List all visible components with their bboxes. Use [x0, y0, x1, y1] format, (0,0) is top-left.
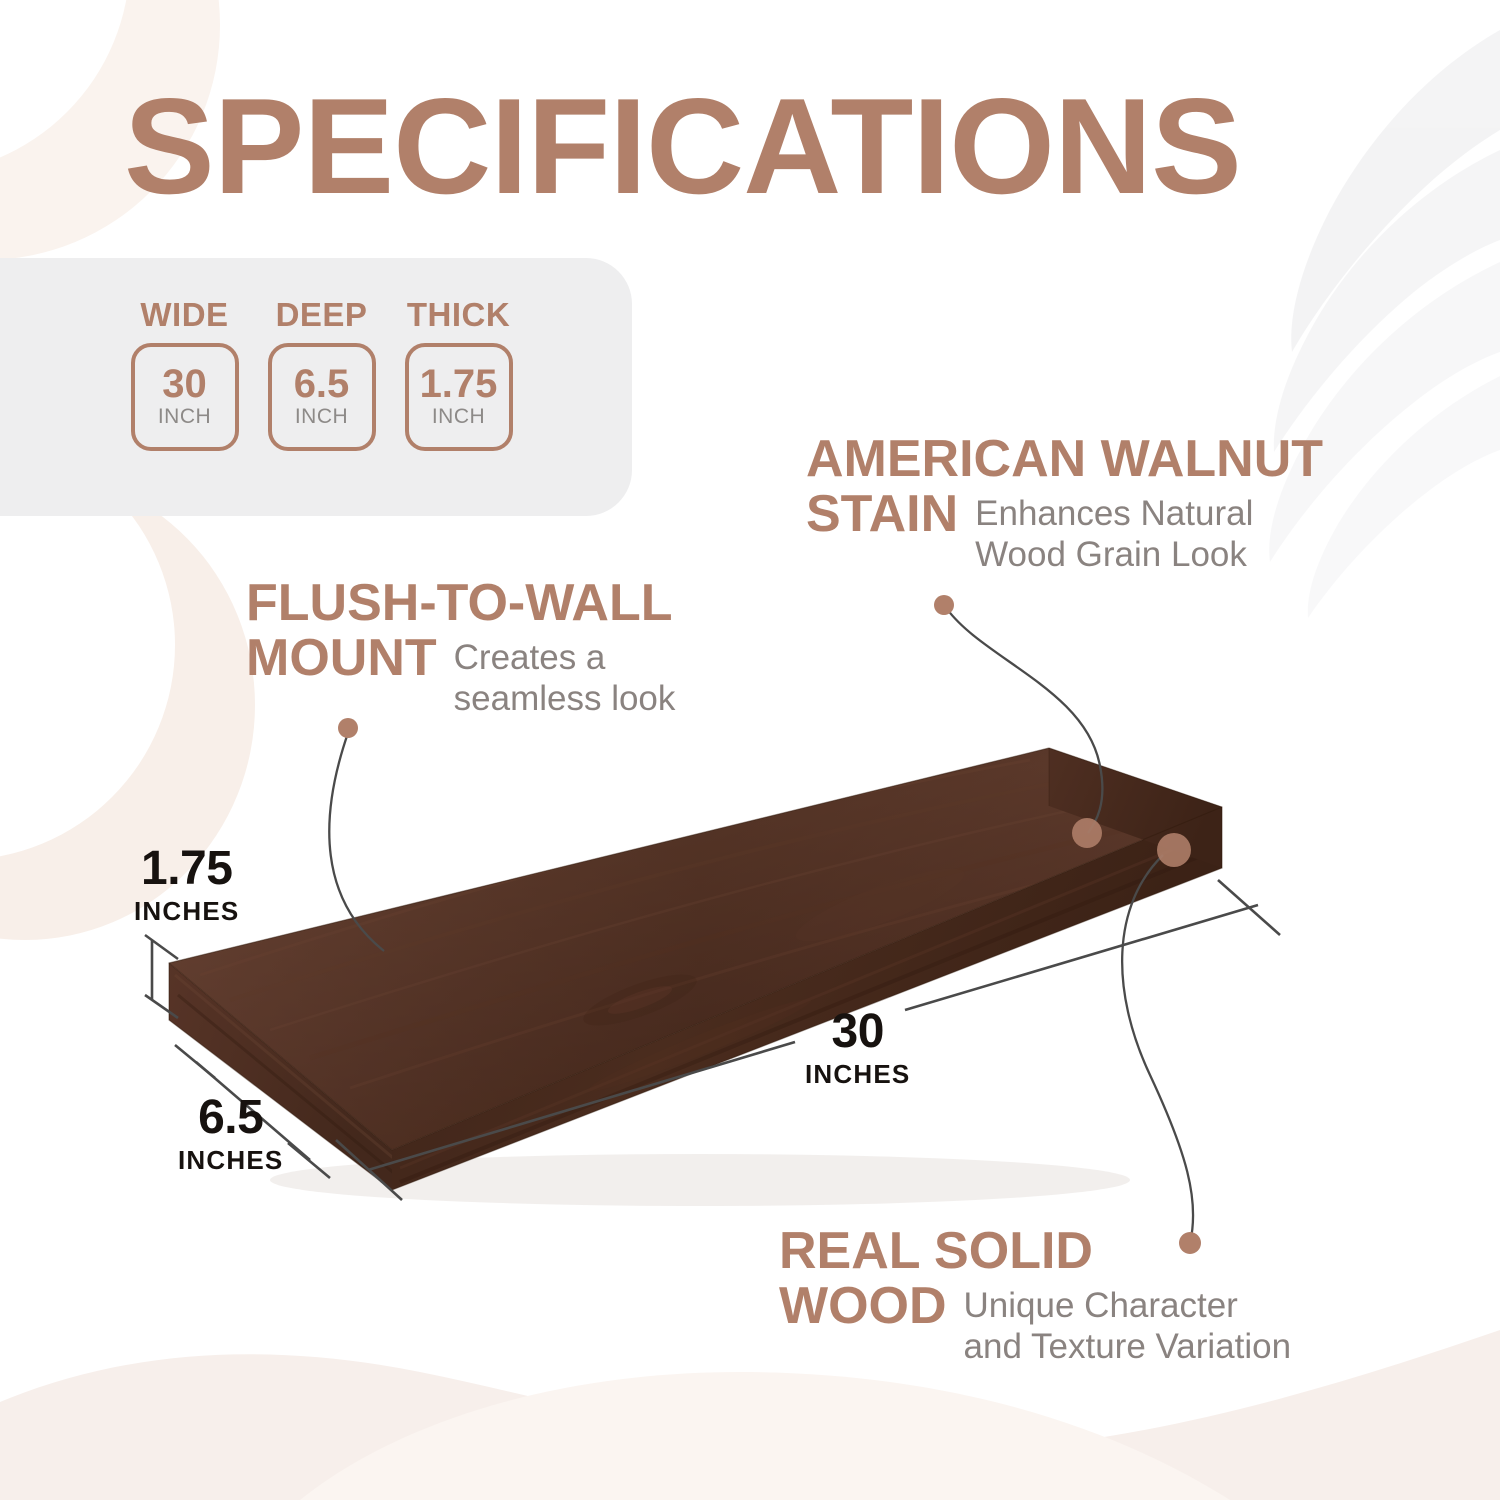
dimension-chip-thick: THICK 1.75 INCH: [402, 296, 515, 451]
callout-american-walnut-stain: AMERICAN WALNUT STAIN Enhances Natural W…: [806, 432, 1466, 576]
callout-title-line1: AMERICAN WALNUT: [806, 432, 1466, 487]
chip-value: 1.75: [420, 365, 498, 403]
callout-desc-line2: Wood Grain Look: [975, 534, 1253, 575]
shelf-top-grain: [160, 740, 1240, 1160]
dimension-label-depth: 6.5 INCHES: [178, 1094, 283, 1176]
dimension-chip-deep: DEEP 6.5 INCH: [265, 296, 378, 451]
dim-thickness-tick-bottom: [145, 995, 178, 1018]
dimension-value: 6.5: [198, 1091, 263, 1144]
dim-width-tick-left: [336, 1140, 402, 1200]
callout-title-line2: STAIN: [806, 487, 958, 542]
dimension-value: 1.75: [141, 842, 232, 895]
connector-dot-flush-to-wall: [338, 718, 358, 738]
product-shadow: [270, 1154, 1130, 1206]
callout-flush-to-wall-mount: FLUSH-TO-WALL MOUNT Creates a seamless l…: [246, 576, 786, 720]
dim-depth-tick-bottom: [288, 1143, 330, 1178]
dimension-unit: INCHES: [805, 1059, 910, 1090]
callout-real-solid-wood: REAL SOLID WOOD Unique Character and Tex…: [779, 1224, 1419, 1368]
callout-title-line1: FLUSH-TO-WALL: [246, 576, 786, 631]
connector-american-walnut: [947, 609, 1102, 833]
dimension-lines: [145, 880, 1280, 1200]
chip-label: DEEP: [276, 296, 368, 334]
connector-real-solid-wood: [1122, 855, 1193, 1243]
callout-desc-line1: Enhances Natural: [975, 493, 1253, 534]
callout-desc-line1: Unique Character: [964, 1285, 1292, 1326]
shelf-top-face: [169, 748, 1222, 1150]
chip-unit: INCH: [158, 405, 211, 429]
callout-desc-line2: seamless look: [454, 678, 676, 719]
callout-title-line1: REAL SOLID: [779, 1224, 1419, 1279]
dimension-label-thickness: 1.75 INCHES: [134, 845, 239, 927]
chip-box: 1.75 INCH: [405, 343, 513, 451]
dim-width-tick-right: [1218, 880, 1280, 935]
dim-width-line-left: [368, 1042, 795, 1170]
dimension-unit: INCHES: [178, 1145, 283, 1176]
dimension-unit: INCHES: [134, 896, 239, 927]
chip-value: 6.5: [294, 365, 350, 403]
infographic-canvas: SPECIFICATIONS WIDE 30 INCH DEEP 6.5 INC…: [0, 0, 1500, 1500]
dim-width-line-right: [905, 905, 1258, 1010]
dimension-value: 30: [832, 1005, 884, 1058]
chip-unit: INCH: [295, 405, 348, 429]
dim-depth-tick-top: [175, 1045, 215, 1078]
chip-label: THICK: [407, 296, 510, 334]
connector-dot-american-walnut-anchor: [1072, 818, 1102, 848]
chip-unit: INCH: [432, 405, 485, 429]
callout-desc-line2: and Texture Variation: [964, 1326, 1292, 1367]
chip-label: WIDE: [140, 296, 228, 334]
dimension-label-width: 30 INCHES: [805, 1008, 910, 1090]
chip-box: 6.5 INCH: [268, 343, 376, 451]
connector-flush-to-wall: [329, 733, 384, 951]
chip-box: 30 INCH: [131, 343, 239, 451]
wood-shelf-product: [160, 740, 1240, 1190]
decorative-blob-top-left-cutout: [0, 0, 130, 175]
callout-title-line2: WOOD: [779, 1279, 947, 1334]
shelf-right-face: [1049, 748, 1222, 868]
callout-desc-line1: Creates a: [454, 637, 676, 678]
chip-value: 30: [162, 365, 207, 403]
dimension-chip-group: WIDE 30 INCH DEEP 6.5 INCH THICK 1.75 IN…: [128, 296, 515, 451]
dimension-chip-wide: WIDE 30 INCH: [128, 296, 241, 451]
connector-dot-american-walnut-label: [934, 595, 954, 615]
connector-dot-real-solid-wood-anchor: [1157, 833, 1191, 867]
page-title: SPECIFICATIONS: [124, 78, 1241, 214]
shelf-front-face: [392, 807, 1222, 1190]
dim-thickness-tick-top: [145, 935, 178, 959]
callout-title-line2: MOUNT: [246, 631, 437, 686]
